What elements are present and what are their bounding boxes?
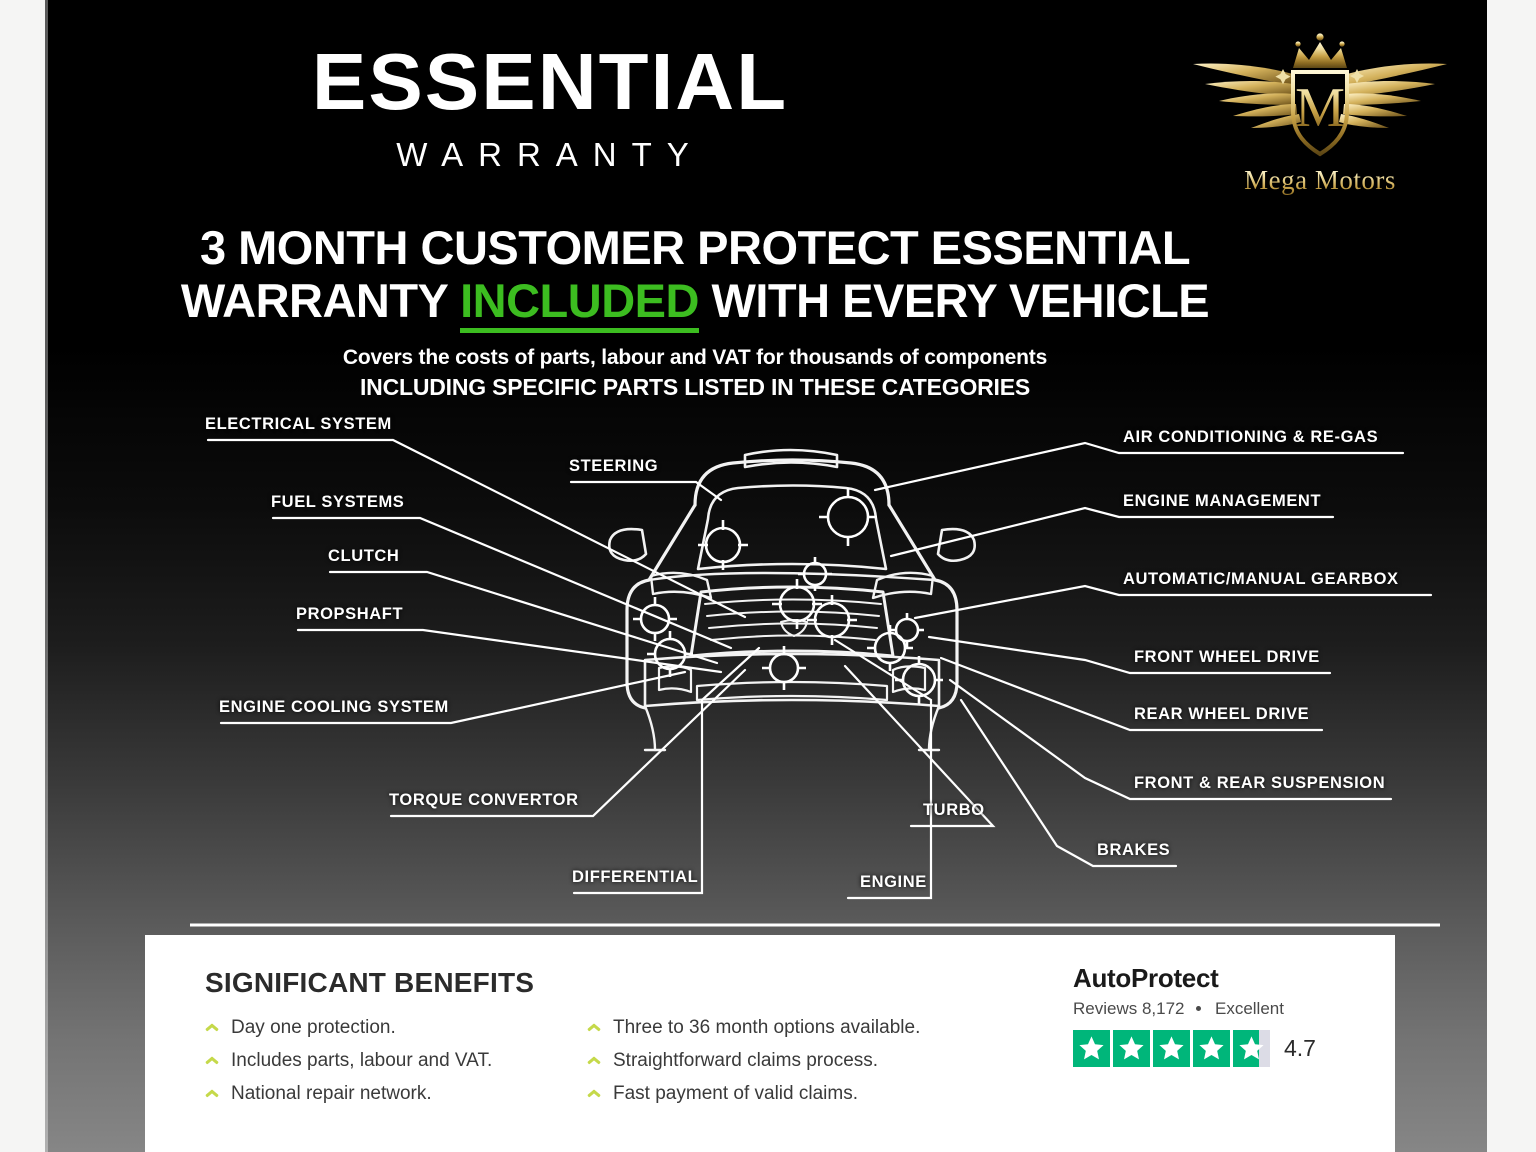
label-engine-management: ENGINE MANAGEMENT [1123, 492, 1321, 511]
rating-score: 4.7 [1284, 1035, 1316, 1062]
benefit-item: Day one protection. [203, 1017, 492, 1039]
chevron-up-icon [205, 1055, 218, 1064]
star-icon [1153, 1030, 1190, 1067]
benefits-column-1: Day one protection. Includes parts, labo… [203, 1017, 492, 1116]
benefit-text: Day one protection. [231, 1017, 396, 1038]
benefit-text: National repair network. [231, 1083, 432, 1104]
autoprotect-brand: AutoProtect [1073, 963, 1343, 994]
star-icon [1073, 1030, 1110, 1067]
car-illustration [609, 450, 974, 750]
benefit-item: National repair network. [203, 1083, 492, 1105]
benefit-item: Fast payment of valid claims. [585, 1083, 920, 1105]
label-turbo: TURBO [923, 801, 985, 820]
reviews-count: Reviews 8,172 [1073, 999, 1185, 1018]
benefit-item: Includes parts, labour and VAT. [203, 1050, 492, 1072]
label-steering: STEERING [569, 457, 658, 476]
label-electrical-system: ELECTRICAL SYSTEM [205, 415, 392, 434]
target-markers [633, 488, 943, 704]
label-brakes: BRAKES [1097, 841, 1170, 860]
autoprotect-rating-block: AutoProtect Reviews 8,172 Excellent [1073, 963, 1343, 1067]
significant-benefits-card: SIGNIFICANT BENEFITS Day one protection.… [145, 935, 1395, 1152]
autoprotect-reviews-line: Reviews 8,172 Excellent [1073, 999, 1343, 1019]
label-air-conditioning-regas: AIR CONDITIONING & RE-GAS [1123, 428, 1378, 447]
benefit-text: Three to 36 month options available. [613, 1017, 920, 1038]
label-engine: ENGINE [860, 873, 927, 892]
rating-word: Excellent [1215, 999, 1284, 1018]
chevron-up-icon [587, 1088, 600, 1097]
card-title: SIGNIFICANT BENEFITS [205, 967, 534, 999]
star-icon [1113, 1030, 1150, 1067]
label-engine-cooling-system: ENGINE COOLING SYSTEM [219, 698, 449, 717]
label-differential: DIFFERENTIAL [572, 868, 698, 887]
label-front-wheel-drive: FRONT WHEEL DRIVE [1134, 648, 1320, 667]
label-automatic-manual-gearbox: AUTOMATIC/MANUAL GEARBOX [1123, 570, 1399, 589]
label-rear-wheel-drive: REAR WHEEL DRIVE [1134, 705, 1309, 724]
benefit-item: Straightforward claims process. [585, 1050, 920, 1072]
label-front-rear-suspension: FRONT & REAR SUSPENSION [1134, 774, 1385, 793]
label-torque-convertor: TORQUE CONVERTOR [389, 791, 579, 810]
chevron-up-icon [587, 1055, 600, 1064]
benefit-text: Fast payment of valid claims. [613, 1083, 858, 1104]
label-clutch: CLUTCH [328, 547, 399, 566]
chevron-up-icon [587, 1022, 600, 1031]
warranty-poster: ESSENTIAL WARRANTY [45, 0, 1487, 1152]
label-propshaft: PROPSHAFT [296, 605, 403, 624]
benefit-text: Straightforward claims process. [613, 1050, 878, 1071]
benefit-item: Three to 36 month options available. [585, 1017, 920, 1039]
star-icon-partial [1233, 1030, 1270, 1067]
chevron-up-icon [205, 1022, 218, 1031]
trustpilot-stars: 4.7 [1073, 1030, 1343, 1067]
separator-dot-icon [1196, 1006, 1201, 1011]
star-icon [1193, 1030, 1230, 1067]
label-fuel-systems: FUEL SYSTEMS [271, 493, 404, 512]
benefit-text: Includes parts, labour and VAT. [231, 1050, 492, 1071]
chevron-up-icon [205, 1088, 218, 1097]
benefits-column-2: Three to 36 month options available. Str… [585, 1017, 920, 1116]
